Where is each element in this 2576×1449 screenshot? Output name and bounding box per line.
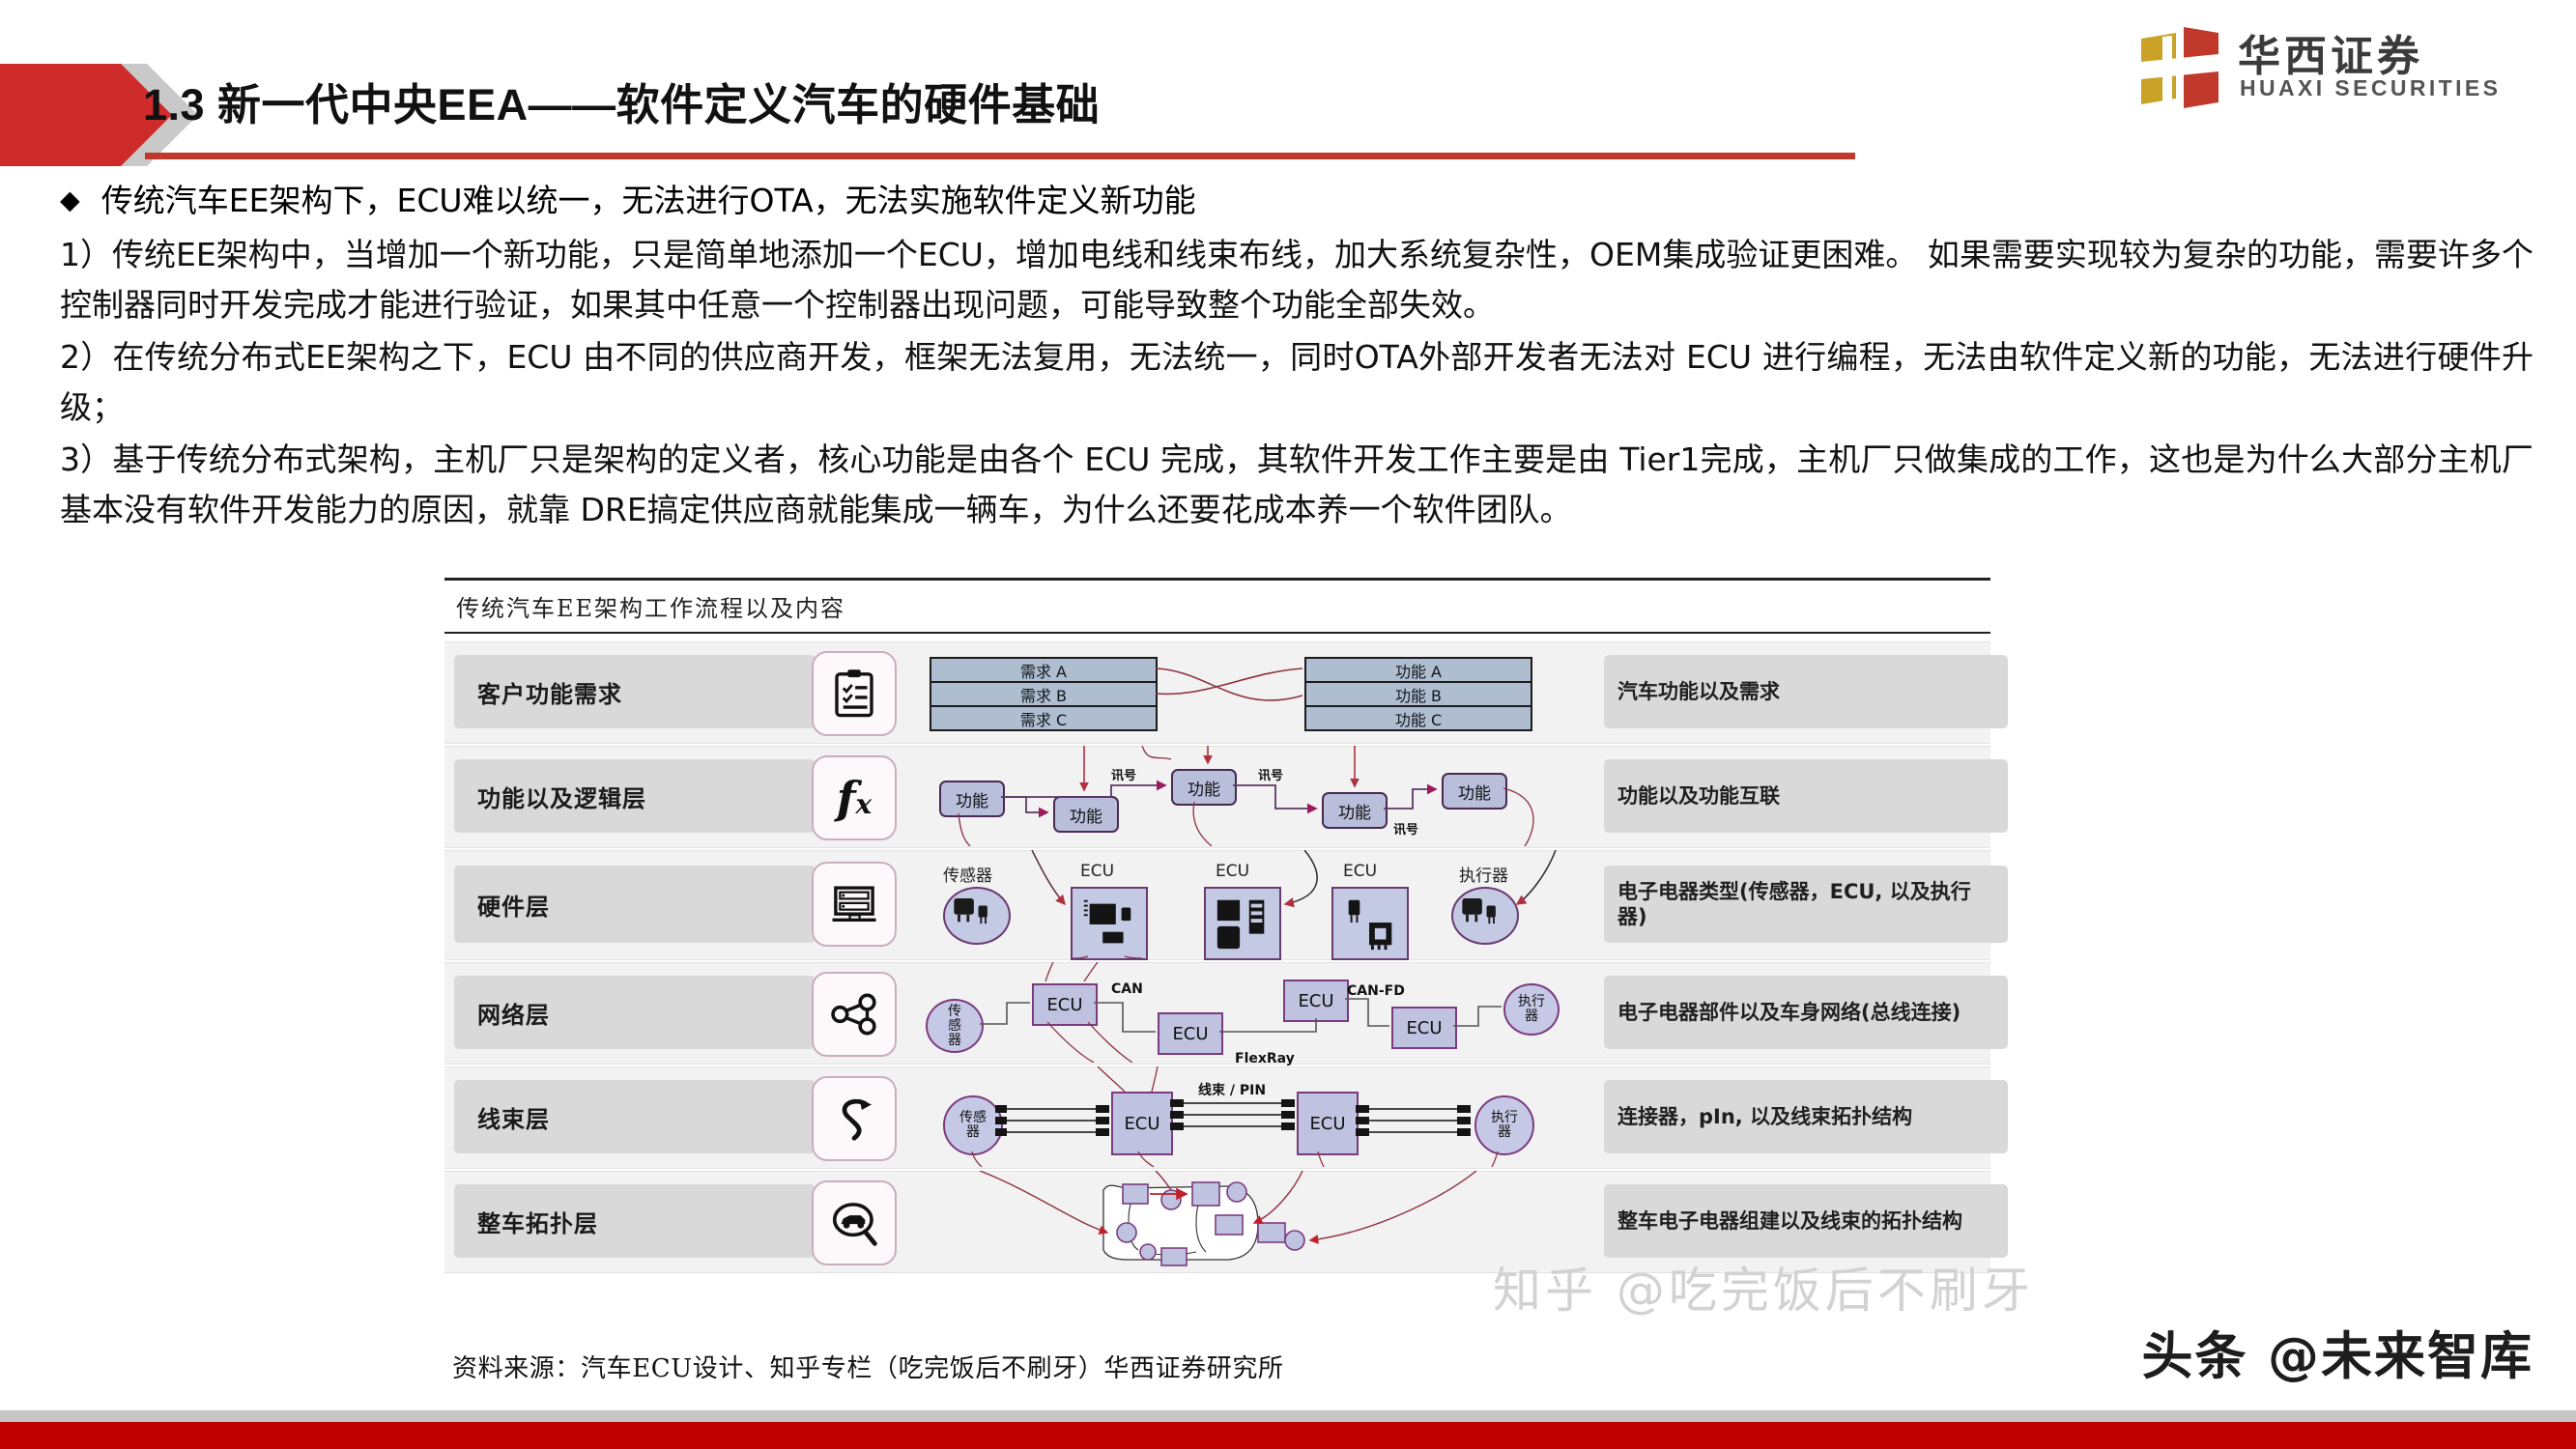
footer-red-bar [0, 1422, 2576, 1449]
figure-row-network: 网络层 传感器 ECU ECU ECU ECU 执行器 CAN CAN-FD F… [444, 962, 1990, 1063]
requirements-function-mapping-canvas: 需求 A 需求 B 需求 C 功能 A 功能 B 功能 C [918, 647, 1556, 736]
title-underline [145, 153, 1855, 159]
clipboard-checklist-glyph [828, 668, 880, 720]
paragraph-1: 1）传统EE架构中，当增加一个新功能，只是简单地添加一个ECU，增加电线和线束布… [60, 230, 2533, 330]
harness-canvas: 传感器 ECU ECU 执行器 线束 / PIN [918, 1066, 1594, 1167]
function-logic-canvas: 功能 功能 功能 功能 功能 讯号 讯号 讯号 [918, 746, 1594, 846]
page-title: 1.3 新一代中央EEA——软件定义汽车的硬件基础 [143, 70, 1100, 132]
figure-rule-top [444, 578, 1990, 581]
mapping-connector-lines [918, 647, 1556, 736]
network-bus-lines [918, 962, 1594, 1063]
logo-english-name: HUAXI SECURITIES [2240, 75, 2501, 101]
vehicle-topology-canvas [918, 1171, 1594, 1271]
huaxi-h-mark-icon [2133, 23, 2226, 108]
paragraph-3: 3）基于传统分布式架构，主机厂只是架构的定义者，核心功能是由各个 ECU 完成，… [60, 435, 2533, 535]
figure-rule-bottom [444, 632, 1990, 634]
fx-function-icon: fx [812, 755, 897, 840]
bullet-heading-row: ◆ 传统汽车EE架构下，ECU难以统一，无法进行OTA，无法实施软件定义新功能 [60, 180, 2533, 222]
figure-row-vehicle-topology: 整车拓扑层 [444, 1171, 1990, 1271]
figure-container: 传统汽车EE架构工作流程以及内容 客户功能需求 需求 A 需求 B 需求 C [444, 578, 1990, 1341]
row-label-chip: 硬件层 [454, 866, 816, 943]
toutiao-watermark: 头条 @未来智库 [2142, 1316, 2533, 1389]
network-share-glyph [828, 988, 880, 1040]
row-desc-chip: 汽车功能以及需求 [1604, 655, 2008, 728]
row-label-chip: 线束层 [454, 1080, 816, 1153]
page-header: 1.3 新一代中央EEA——软件定义汽车的硬件基础 华西证券 HUAXI SEC… [0, 0, 2576, 169]
hardware-connector-arrows [918, 850, 1594, 958]
row-label-chip: 整车拓扑层 [454, 1184, 816, 1258]
harness-wires [918, 1066, 1594, 1167]
clipboard-checklist-icon [812, 651, 897, 736]
figure-row-function-logic: 功能以及逻辑层 fx 功能 功能 功能 功能 功能 讯号 讯号 讯号 [444, 746, 1990, 846]
row-desc-chip: 电子电器部件以及车身网络(总线连接) [1604, 976, 2008, 1049]
row-desc-chip: 整车电子电器组建以及线束的拓扑结构 [1604, 1184, 2008, 1258]
figure-source-note: 资料来源：汽车ECU设计、知乎专栏（吃完饭后不刷牙）华西证券研究所 [452, 1349, 1284, 1384]
row-label-chip: 客户功能需求 [454, 655, 816, 728]
fx-glyph: fx [837, 772, 873, 824]
bullet-heading-text: 传统汽车EE架构下，ECU难以统一，无法进行OTA，无法实施软件定义新功能 [101, 180, 1196, 222]
row-desc-chip: 连接器，pIn, 以及线束拓扑结构 [1604, 1080, 2008, 1153]
wiring-harness-glyph [828, 1093, 880, 1145]
row-desc-chip: 电子电器类型(传感器，ECU, 以及执行器) [1604, 866, 2008, 943]
hardware-board-icon [812, 862, 897, 947]
figure-caption: 传统汽车EE架构工作流程以及内容 [456, 589, 845, 623]
car-magnifier-icon [812, 1180, 897, 1265]
figure-row-hardware: 硬件层 传感器 ECU ECU ECU 执行器 [444, 850, 1990, 958]
figure-row-customer-requirements: 客户功能需求 需求 A 需求 B 需求 C 功能 A 功能 B 功能 C [444, 641, 1990, 742]
body-text-block: ◆ 传统汽车EE架构下，ECU难以统一，无法进行OTA，无法实施软件定义新功能 … [60, 180, 2533, 537]
figure-row-harness: 线束层 传感器 ECU ECU 执行器 线束 / PIN [444, 1066, 1990, 1167]
network-share-icon [812, 972, 897, 1057]
logo-chinese-name: 华西证券 [2238, 21, 2423, 83]
row-label-chip: 功能以及逻辑层 [454, 759, 816, 833]
car-magnifier-glyph [828, 1197, 880, 1249]
diamond-bullet-icon: ◆ [60, 180, 80, 220]
hardware-canvas: 传感器 ECU ECU ECU 执行器 [918, 850, 1594, 958]
function-flow-arrows [918, 746, 1594, 846]
wiring-harness-icon [812, 1076, 897, 1161]
footer-gray-bar [0, 1410, 2576, 1422]
hardware-board-glyph [828, 878, 880, 930]
row-label-chip: 网络层 [454, 976, 816, 1049]
vehicle-topology-diagram [918, 1171, 1594, 1271]
row-desc-chip: 功能以及功能互联 [1604, 759, 2008, 833]
company-logo: 华西证券 HUAXI SECURITIES [2133, 17, 2520, 114]
network-canvas: 传感器 ECU ECU ECU ECU 执行器 CAN CAN-FD FlexR… [918, 962, 1594, 1063]
paragraph-2: 2）在传统分布式EE架构之下，ECU 由不同的供应商开发，框架无法复用，无法统一… [60, 332, 2533, 433]
